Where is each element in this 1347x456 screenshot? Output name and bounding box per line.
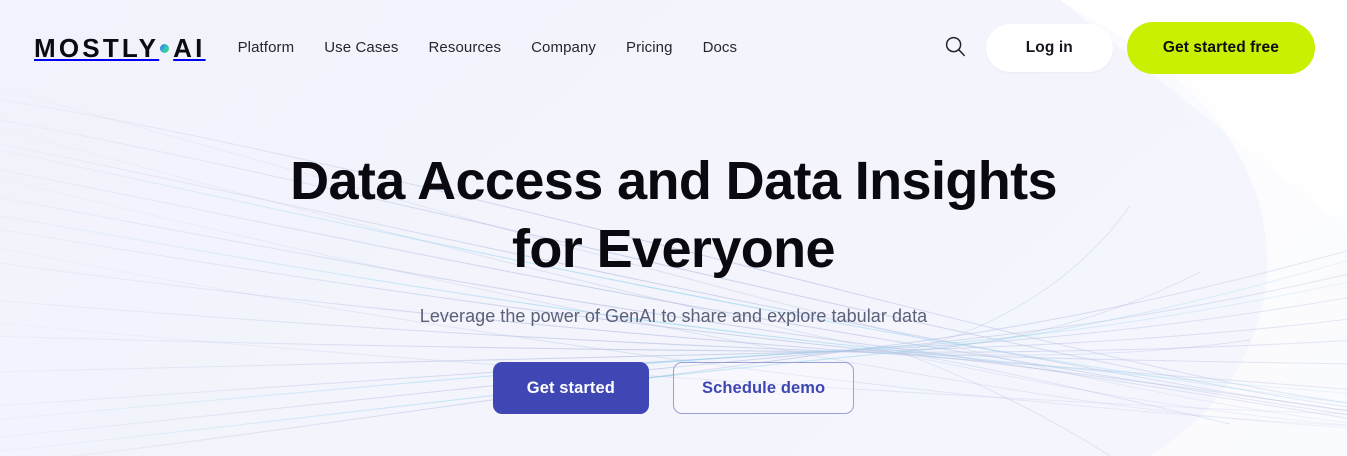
search-icon (944, 35, 966, 60)
brand-name-mostly: MOSTLY (34, 35, 159, 61)
nav-item-company[interactable]: Company (531, 39, 596, 56)
hero-title-line-2: for Everyone (290, 215, 1057, 283)
header-actions: Log in Get started free (938, 22, 1315, 74)
nav-item-docs[interactable]: Docs (703, 39, 738, 56)
search-button[interactable] (938, 31, 972, 65)
page-root: MOSTLY AI Platform Use Cases Resources C… (0, 0, 1347, 456)
nav-item-platform[interactable]: Platform (238, 39, 295, 56)
nav-item-pricing[interactable]: Pricing (626, 39, 673, 56)
hero-title-line-1: Data Access and Data Insights (290, 147, 1057, 215)
brand-dot-icon (160, 44, 169, 53)
get-started-button[interactable]: Get started (493, 362, 649, 414)
site-header: MOSTLY AI Platform Use Cases Resources C… (0, 0, 1347, 95)
schedule-demo-button[interactable]: Schedule demo (673, 362, 854, 414)
get-started-free-button[interactable]: Get started free (1127, 22, 1315, 74)
brand-name-ai: AI (173, 35, 205, 61)
main-navigation: Platform Use Cases Resources Company Pri… (238, 39, 738, 56)
brand-logo[interactable]: MOSTLY AI (34, 33, 206, 63)
hero-section: Data Access and Data Insights for Everyo… (0, 95, 1347, 456)
nav-item-resources[interactable]: Resources (428, 39, 501, 56)
nav-item-use-cases[interactable]: Use Cases (324, 39, 398, 56)
hero-title: Data Access and Data Insights for Everyo… (290, 147, 1057, 283)
login-button[interactable]: Log in (986, 24, 1113, 72)
hero-action-buttons: Get started Schedule demo (493, 362, 854, 414)
hero-subtitle: Leverage the power of GenAI to share and… (420, 306, 927, 327)
